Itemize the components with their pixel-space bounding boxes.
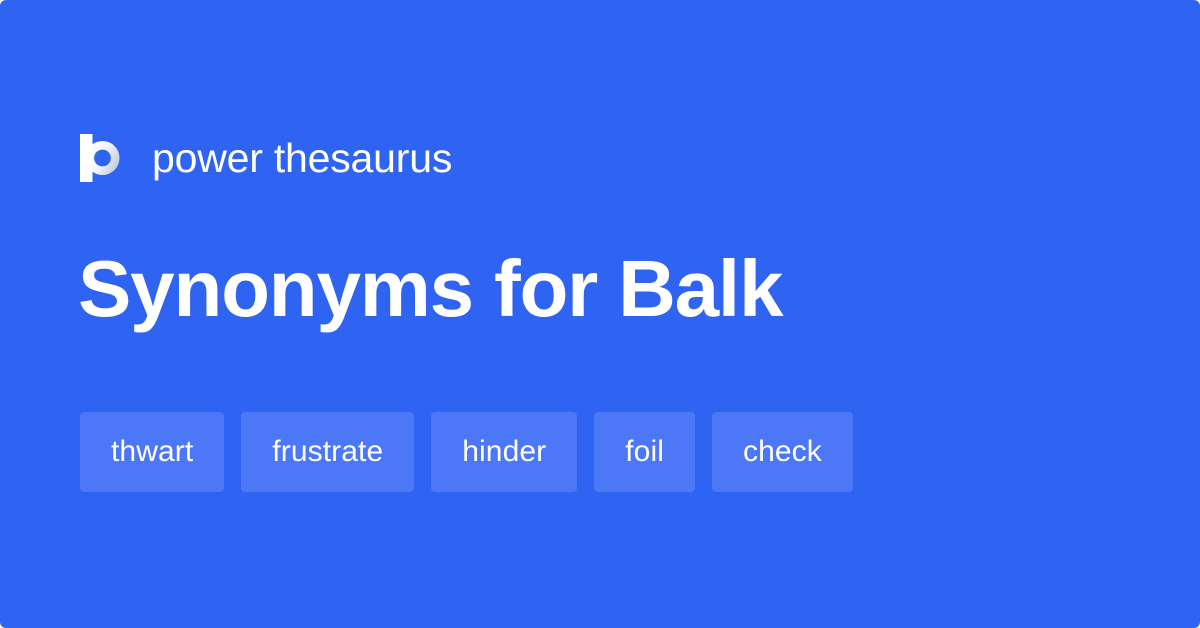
synonym-chip[interactable]: thwart (80, 412, 224, 492)
page-title: Synonyms for Balk (78, 246, 782, 332)
brand-lockup[interactable]: power thesaurus (80, 130, 452, 186)
synonym-chip[interactable]: hinder (431, 412, 577, 492)
social-preview-card: power thesaurus Synonyms for Balk thwart… (0, 0, 1200, 628)
synonym-chip[interactable]: check (712, 412, 853, 492)
power-thesaurus-b-logo-icon (80, 134, 126, 182)
synonym-chip[interactable]: frustrate (241, 412, 414, 492)
brand-name: power thesaurus (152, 138, 452, 179)
synonym-chip-list: thwart frustrate hinder foil check (80, 412, 853, 492)
synonym-chip[interactable]: foil (594, 412, 695, 492)
